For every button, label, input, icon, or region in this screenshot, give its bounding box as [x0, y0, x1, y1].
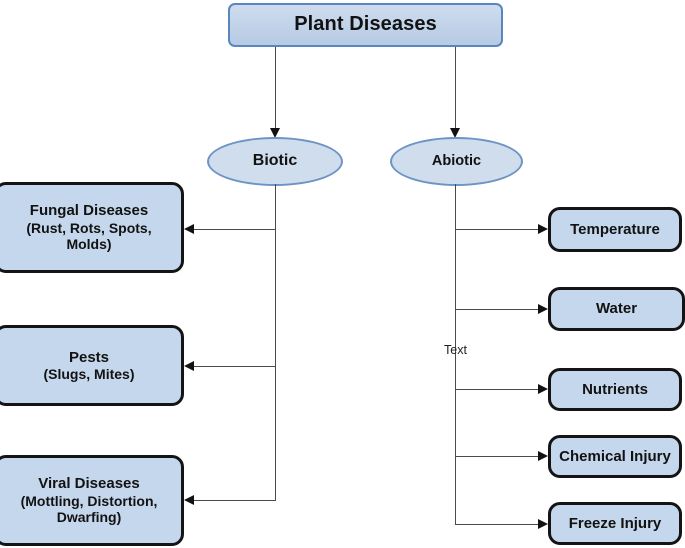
node-abiotic[interactable]: Abiotic [390, 137, 523, 186]
connector-abiotic-to-water [456, 309, 539, 310]
node-fungal-diseases-label: Fungal Diseases [30, 202, 148, 220]
arrowhead-abiotic-to-chemical-injury [538, 451, 548, 461]
node-plant-diseases-label: Plant Diseases [294, 13, 437, 36]
node-nutrients-label: Nutrients [582, 381, 648, 399]
node-viral-diseases[interactable]: Viral Diseases (Mottling, Distortion, Dw… [0, 455, 184, 546]
node-fungal-diseases-sub-1: (Rust, Rots, Spots, [26, 220, 151, 236]
node-chemical-injury[interactable]: Chemical Injury [548, 435, 682, 478]
node-freeze-injury[interactable]: Freeze Injury [548, 502, 682, 545]
arrowhead-biotic-to-pests [184, 361, 194, 371]
node-pests[interactable]: Pests (Slugs, Mites) [0, 325, 184, 406]
node-plant-diseases[interactable]: Plant Diseases [228, 3, 503, 47]
node-biotic-label: Biotic [253, 152, 297, 171]
node-temperature[interactable]: Temperature [548, 207, 682, 252]
node-temperature-label: Temperature [570, 221, 660, 239]
node-chemical-injury-label: Chemical Injury [559, 448, 671, 466]
connector-biotic-to-fungal-diseases [193, 229, 276, 230]
arrowhead-abiotic-to-water [538, 304, 548, 314]
connector-title-to-biotic [275, 47, 276, 130]
node-pests-sub-1: (Slugs, Mites) [43, 366, 134, 382]
connector-abiotic-to-freeze-injury [456, 524, 539, 525]
connector-abiotic-to-nutrients [456, 389, 539, 390]
arrowhead-abiotic-to-temperature [538, 224, 548, 234]
edge-label-text: Text [444, 343, 467, 357]
connector-biotic-trunk [275, 184, 276, 500]
node-nutrients[interactable]: Nutrients [548, 368, 682, 411]
arrowhead-abiotic-to-freeze-injury [538, 519, 548, 529]
connector-abiotic-to-chemical-injury [456, 456, 539, 457]
node-pests-label: Pests [69, 349, 109, 367]
node-water-label: Water [596, 300, 637, 318]
connector-biotic-to-viral-diseases [193, 500, 276, 501]
node-viral-diseases-sub-1: (Mottling, Distortion, [21, 493, 158, 509]
node-fungal-diseases-sub-2: Molds) [66, 236, 111, 252]
flowchart-canvas: Plant Diseases Biotic Abiotic Text Funga… [0, 0, 685, 548]
node-abiotic-label: Abiotic [432, 153, 481, 170]
connector-biotic-to-pests [193, 366, 276, 367]
node-fungal-diseases[interactable]: Fungal Diseases (Rust, Rots, Spots, Mold… [0, 182, 184, 273]
arrowhead-biotic-to-fungal-diseases [184, 224, 194, 234]
node-freeze-injury-label: Freeze Injury [569, 515, 662, 533]
node-water[interactable]: Water [548, 287, 685, 331]
node-viral-diseases-label: Viral Diseases [38, 475, 139, 493]
node-viral-diseases-sub-2: Dwarfing) [57, 509, 122, 525]
connector-title-to-abiotic [455, 47, 456, 130]
connector-abiotic-to-temperature [456, 229, 539, 230]
arrowhead-biotic-to-viral-diseases [184, 495, 194, 505]
arrowhead-abiotic-to-nutrients [538, 384, 548, 394]
node-biotic[interactable]: Biotic [207, 137, 343, 186]
